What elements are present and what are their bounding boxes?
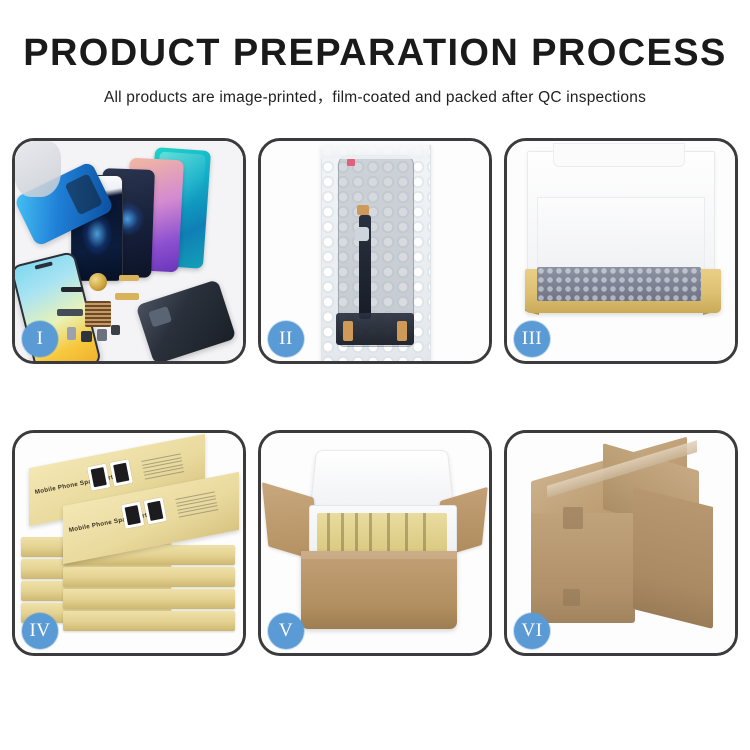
speaker-part-icon xyxy=(61,287,83,292)
step-badge-2: II xyxy=(268,321,304,357)
screen-connector-icon xyxy=(357,205,369,215)
step-badge-3: III xyxy=(514,321,550,357)
carton-tab-lower-icon xyxy=(563,589,580,606)
flex-cable-b-icon xyxy=(115,293,139,300)
process-step-grid: I II xyxy=(12,138,738,656)
flex-cable-a-icon xyxy=(57,309,83,316)
process-step-panel-6: VI xyxy=(504,430,738,656)
box-thumb-1a xyxy=(87,464,110,491)
carton-tab-upper-icon xyxy=(563,507,583,529)
pink-qc-tag-icon xyxy=(347,159,355,166)
page-subtitle: All products are image-printed，film-coat… xyxy=(0,85,750,107)
carton-side-face-icon xyxy=(633,487,713,629)
bag-seal-icon xyxy=(321,141,429,159)
step-badge-1: I xyxy=(22,321,58,357)
step-badge-5: V xyxy=(268,613,304,649)
gold-contact-left-icon xyxy=(343,321,353,341)
hand-icon xyxy=(15,141,61,197)
stacked-box-7 xyxy=(63,589,235,609)
small-part-4-icon xyxy=(111,325,120,335)
process-step-panel-3: III xyxy=(504,138,738,364)
process-step-panel-4: Mobile Phone Spare Parts Mobile Phone Sp… xyxy=(12,430,246,656)
flex-cable-c-icon xyxy=(119,275,139,281)
small-part-1-icon xyxy=(67,327,76,340)
page-title: PRODUCT PREPARATION PROCESS xyxy=(0,34,750,72)
box-thumb-2a xyxy=(121,502,144,529)
carton-body-icon xyxy=(301,551,457,629)
styrofoam-lid-icon xyxy=(309,450,454,511)
screen-chip-icon xyxy=(355,227,369,241)
step-badge-4: IV xyxy=(22,613,58,649)
small-part-2-icon xyxy=(81,331,92,342)
box-lid-tab-icon xyxy=(553,143,685,167)
stacked-box-6 xyxy=(63,567,235,587)
product-preparation-page: PRODUCT PREPARATION PROCESS All products… xyxy=(0,0,750,750)
page-header: PRODUCT PREPARATION PROCESS All products… xyxy=(0,0,750,107)
coil-part-icon xyxy=(89,273,107,291)
carton-front-face-icon xyxy=(531,513,635,623)
packed-boxes-icon xyxy=(317,513,447,555)
step-badge-6: VI xyxy=(514,613,550,649)
chip-grid-part-icon xyxy=(85,301,111,327)
process-step-panel-5: V xyxy=(258,430,492,656)
foam-sheet-icon xyxy=(537,197,705,277)
stacked-box-8 xyxy=(63,611,235,631)
gold-contact-right-icon xyxy=(397,321,407,341)
small-part-3-icon xyxy=(97,329,107,341)
process-step-panel-2: II xyxy=(258,138,492,364)
process-step-panel-1: I xyxy=(12,138,246,364)
bubble-padding-icon xyxy=(537,267,701,301)
